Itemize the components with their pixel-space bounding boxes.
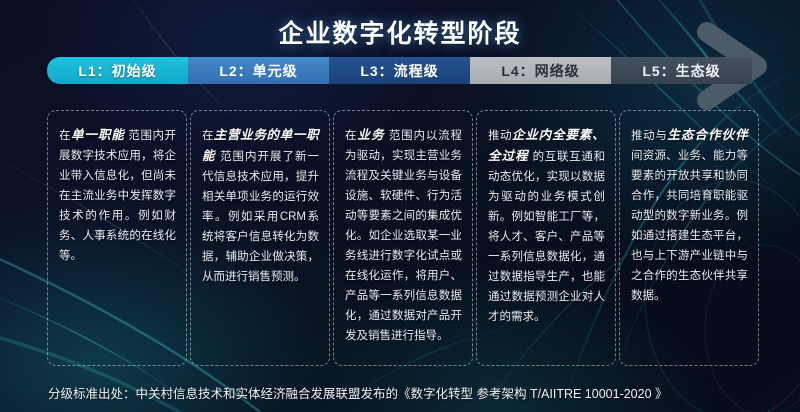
level-label: L5：生态级 [642,61,720,81]
level-card-text: 在单一职能 范围内开展数字技术应用，将企业带入信息化，但尚未在主流业务中发挥数字… [59,125,176,266]
slide-canvas: 企业数字化转型阶段 L1：初始级 L2：单元级 L3：流程级 L4：网络级 L5… [0,0,800,412]
card-rest: 的互联互通和动态优化，实现以数据为驱动的业务模式创新。例如智能工厂等，将人才、客… [488,151,605,323]
level-card-text: 在业务 范围内以流程为驱动，实现主营业务流程及关键业务与设备设施、软硬件、行为活… [345,125,462,346]
card-prefix: 在 [59,130,71,142]
card-rest: 范围内开展数字技术应用，将企业带入信息化，但尚未在主流业务中发挥数字技术的作用。… [59,130,176,262]
level-label: L2：单元级 [219,61,297,81]
card-emphasis: 单一职能 [71,128,125,142]
maturity-level-bar: L1：初始级 L2：单元级 L3：流程级 L4：网络级 L5：生态级 [47,57,752,84]
level-label: L4：网络级 [501,61,579,81]
level-item-l1[interactable]: L1：初始级 [47,57,188,84]
page-title: 企业数字化转型阶段 [0,14,800,50]
card-emphasis: 生态合作伙伴 [667,128,748,142]
card-rest: 范围内以流程为驱动，实现主营业务流程及关键业务与设备设施、软硬件、行为活动等要素… [345,130,462,342]
level-item-l2[interactable]: L2：单元级 [188,57,329,84]
card-emphasis: 业务 [357,128,384,142]
card-prefix: 推动 [488,130,512,142]
level-card-l5: 推动与生态合作伙伴 间资源、业务、能力等要素的开放共享和协同合作，共同培育职能驱… [619,110,759,366]
level-card-l1: 在单一职能 范围内开展数字技术应用，将企业带入信息化，但尚未在主流业务中发挥数字… [47,110,187,366]
level-label: L3：流程级 [360,61,438,81]
level-card-l4: 推动企业内全要素、全过程 的互联互通和动态优化，实现以数据为驱动的业务模式创新。… [476,110,616,366]
card-rest: 间资源、业务、能力等要素的开放共享和协同合作，共同培育职能驱动型的数字新业务。例… [631,150,748,302]
source-note: 分级标准出处：中关村信息技术和实体经济融合发展联盟发布的《数字化转型 参考架构 … [48,383,768,402]
card-rest: 范围内开展了新一代信息技术应用，提升相关单项业务的运行效率。例如采用CRM系统将… [202,151,319,283]
card-prefix: 推动与 [631,130,667,142]
level-item-l4[interactable]: L4：网络级 [470,57,611,84]
level-card-text: 推动与生态合作伙伴 间资源、业务、能力等要素的开放共享和协同合作，共同培育职能驱… [631,125,748,306]
level-card-l2: 在主营业务的单一职能 范围内开展了新一代信息技术应用，提升相关单项业务的运行效率… [190,110,330,366]
level-card-text: 在主营业务的单一职能 范围内开展了新一代信息技术应用，提升相关单项业务的运行效率… [202,125,319,287]
level-card-text: 推动企业内全要素、全过程 的互联互通和动态优化，实现以数据为驱动的业务模式创新。… [488,125,605,327]
card-prefix: 在 [202,130,214,142]
level-description-cards: 在单一职能 范围内开展数字技术应用，将企业带入信息化，但尚未在主流业务中发挥数字… [47,110,760,366]
level-item-l3[interactable]: L3：流程级 [329,57,470,84]
level-label: L1：初始级 [78,61,156,81]
card-prefix: 在 [345,130,357,142]
level-card-l3: 在业务 范围内以流程为驱动，实现主营业务流程及关键业务与设备设施、软硬件、行为活… [333,110,473,366]
level-item-l5[interactable]: L5：生态级 [611,57,752,84]
